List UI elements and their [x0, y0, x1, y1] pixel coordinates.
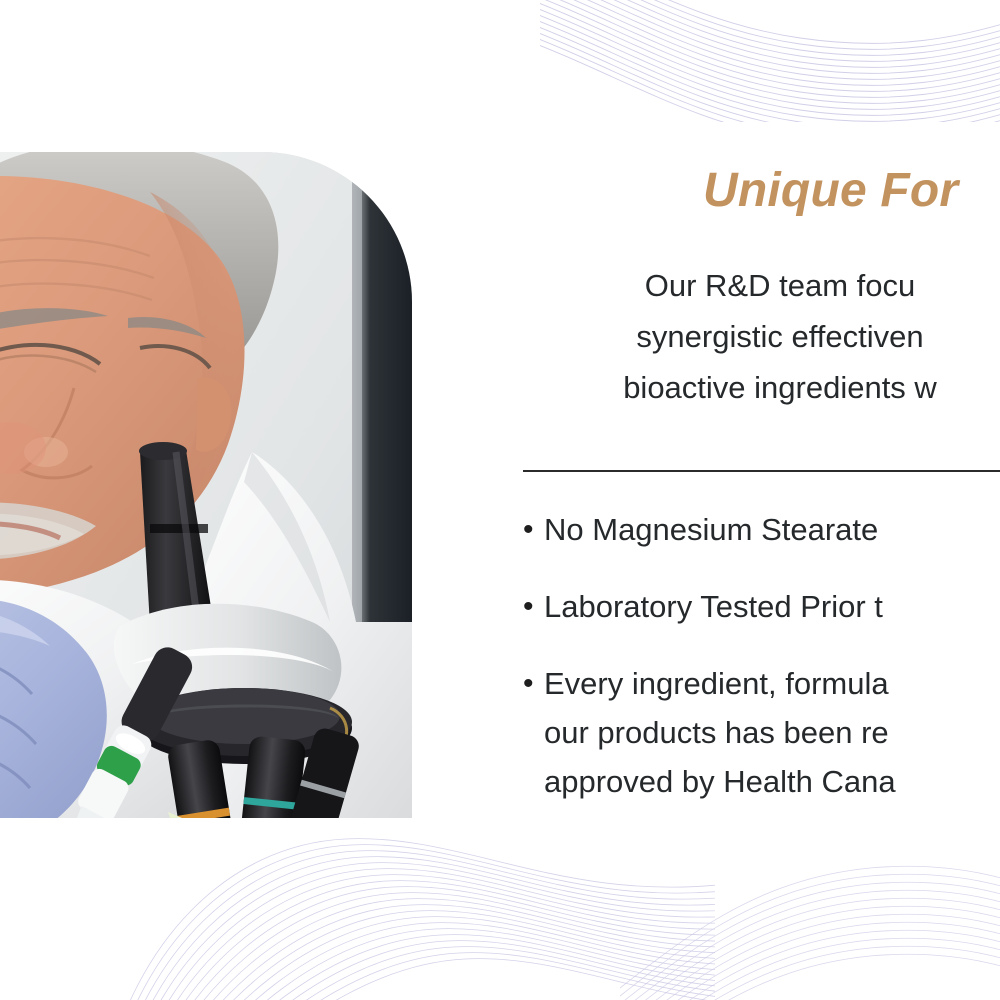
intro-paragraph: Our R&D team focu synergistic effectiven…: [500, 260, 1000, 413]
slide-canvas: 00/1.25 Oil 160/0.17: [0, 0, 1000, 1000]
page-title: Unique For: [703, 163, 958, 218]
list-item: • Every ingredient, formula our products…: [500, 659, 1000, 806]
bullet-marker-icon: •: [500, 505, 544, 554]
lab-scientist-photo: 00/1.25 Oil 160/0.17: [0, 152, 412, 818]
list-item-label: No Magnesium Stearate: [544, 505, 1000, 554]
feature-list: • No Magnesium Stearate • Laboratory Tes…: [500, 505, 1000, 834]
list-item-label: Laboratory Tested Prior t: [544, 582, 1000, 631]
content-column: Unique For Our R&D team focu synergistic…: [500, 0, 1000, 1000]
list-item-label: Every ingredient, formula our products h…: [544, 659, 1000, 806]
bullet-marker-icon: •: [500, 582, 544, 631]
list-item: • Laboratory Tested Prior t: [500, 582, 1000, 631]
bullet-marker-icon: •: [500, 659, 544, 708]
section-divider: [523, 470, 1000, 472]
list-item: • No Magnesium Stearate: [500, 505, 1000, 554]
